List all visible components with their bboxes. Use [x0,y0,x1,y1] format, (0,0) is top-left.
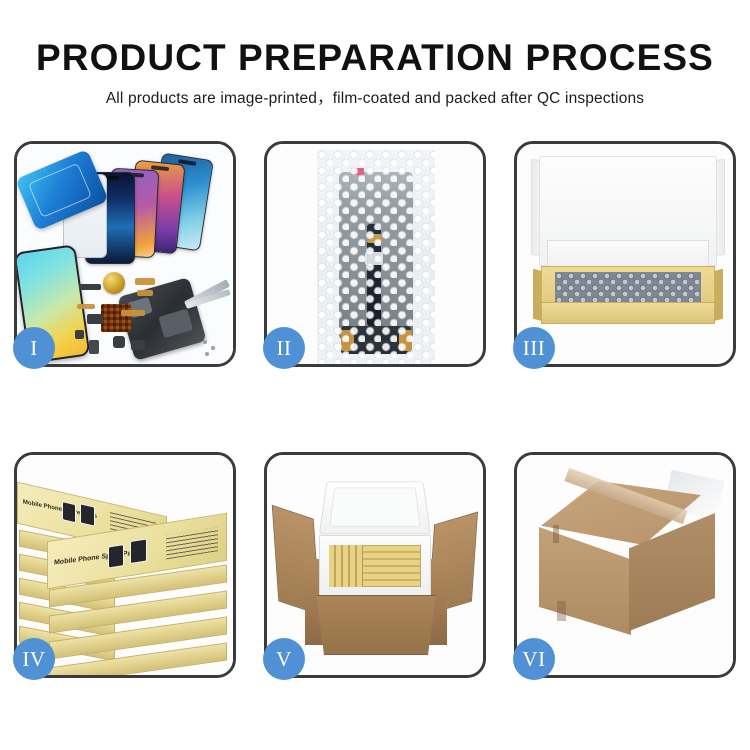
step-5-photo [267,455,483,675]
gold-coil-part-icon [103,272,125,294]
spare-part-icon [87,314,103,324]
step-badge-4: IV [13,638,55,680]
step-3-photo [517,144,733,364]
shipping-box-left-face-icon [539,527,631,635]
step-4-photo: Mobile Phone Spare Parts Mobile Phone Sp… [17,455,233,675]
bubble-cushion-icon [555,272,701,306]
box-product-image [80,503,95,526]
step-badge-5: V [263,638,305,680]
spare-part-icon [113,336,125,348]
flex-cable-icon [121,310,145,316]
process-step-panel-4[interactable]: Mobile Phone Spare Parts Mobile Phone Sp… [14,452,236,678]
process-step-panel-6[interactable]: VI [514,452,736,678]
packed-gold-boxes-icon [329,545,363,587]
kraft-tray-front-icon [541,302,715,324]
page-subtitle: All products are image-printed，film-coat… [0,89,750,109]
bubble-wrap-package-icon [317,150,435,364]
screw-icon [203,340,207,344]
step-badge-2: II [263,327,305,369]
carton-front-icon [311,595,441,655]
spare-part-icon [75,330,84,339]
step-2-photo [267,144,483,364]
box-seam-icon [557,601,566,621]
chip-array-icon [101,304,131,332]
step-1-photo [17,144,233,364]
process-step-panel-3[interactable]: III [514,141,736,367]
product-preparation-page: PRODUCT PREPARATION PROCESS All products… [0,0,750,750]
process-step-panel-2[interactable]: II [264,141,486,367]
flex-cable-icon [77,304,95,309]
bubble-texture-icon [317,150,435,364]
process-step-panel-5[interactable]: V [264,452,486,678]
box-product-image [62,501,76,523]
page-header: PRODUCT PREPARATION PROCESS All products… [0,36,750,109]
step-badge-1: I [13,327,55,369]
screw-icon [211,346,215,350]
spare-part-icon [79,284,101,290]
flex-cable-icon [137,290,153,296]
step-badge-6: VI [513,638,555,680]
process-step-panel-1[interactable]: I [14,141,236,367]
step-badge-3: III [513,327,555,369]
spare-part-icon [131,340,145,350]
box-stack-icon: Mobile Phone Spare Parts Mobile Phone Sp… [19,465,233,671]
process-step-grid: I II [14,141,736,678]
page-title: PRODUCT PREPARATION PROCESS [0,36,750,80]
styrofoam-lid-icon [319,482,431,535]
spare-part-icon [89,340,99,354]
box-seam-icon [553,525,559,543]
box-product-image [130,538,147,564]
screw-icon [205,352,209,356]
box-product-image [108,544,124,569]
step-6-photo [517,455,733,675]
flex-cable-icon [135,278,155,285]
